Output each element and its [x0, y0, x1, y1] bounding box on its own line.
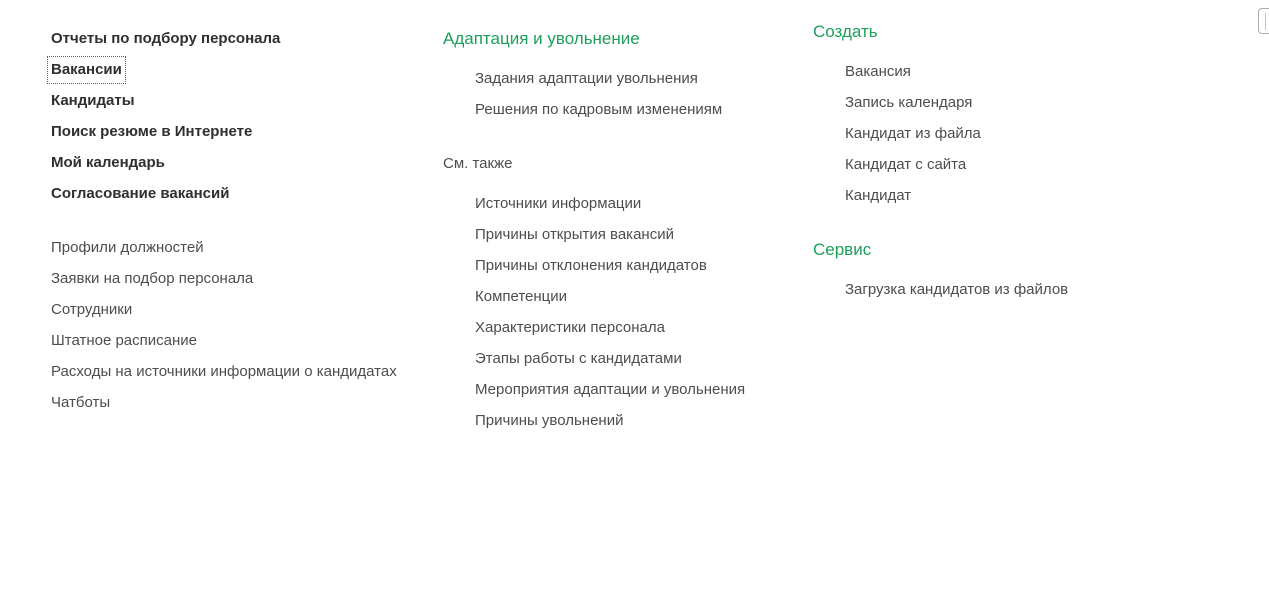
row-upload-candidates-from-files: Загрузка кандидатов из файлов	[813, 274, 1190, 305]
nav-row-reports: Отчеты по подбору персонала	[51, 23, 430, 54]
row-vacancy-opening-reasons: Причины открытия вакансий	[443, 219, 810, 250]
navigation-panel: Отчеты по подбору персонала Вакансии Кан…	[0, 0, 1269, 605]
row-adaptation-dismissal-events: Мероприятия адаптации и увольнения	[443, 374, 810, 405]
nav-link-vacancies[interactable]: Вакансии	[51, 60, 122, 80]
nav-link-vacancy-approval[interactable]: Согласование вакансий	[51, 184, 229, 204]
nav-link-recruitment-reports[interactable]: Отчеты по подбору персонала	[51, 29, 280, 49]
nav-row-candidates: Кандидаты	[51, 85, 430, 116]
nav-row-vacancies: Вакансии	[51, 54, 430, 85]
link-upload-candidates-from-files[interactable]: Загрузка кандидатов из файлов	[845, 280, 1068, 300]
nav-row-source-costs: Расходы на источники информации о кандид…	[51, 356, 430, 387]
row-adaptation-dismissal-tasks: Задания адаптации увольнения	[443, 63, 810, 94]
row-candidate-rejection-reasons: Причины отклонения кандидатов	[443, 250, 810, 281]
see-also-header-gap	[443, 179, 810, 188]
column-adaptation-dismissal: Адаптация и увольнение Задания адаптации…	[430, 0, 810, 436]
nav-link-internet-resume-search[interactable]: Поиск резюме в Интернете	[51, 122, 252, 142]
service-header-gap	[813, 265, 1190, 274]
link-adaptation-dismissal-events[interactable]: Мероприятия адаптации и увольнения	[475, 380, 745, 400]
link-create-vacancy[interactable]: Вакансия	[845, 62, 911, 82]
link-candidate-rejection-reasons[interactable]: Причины отклонения кандидатов	[475, 256, 707, 276]
row-personnel-change-decisions: Решения по кадровым изменениям	[443, 94, 810, 125]
group-title-create[interactable]: Создать	[813, 21, 878, 43]
link-create-candidate-from-site[interactable]: Кандидат с сайта	[845, 155, 966, 175]
row-dismissal-reasons: Причины увольнений	[443, 405, 810, 436]
nav-row-resume-search: Поиск резюме в Интернете	[51, 116, 430, 147]
group-title-adaptation-dismissal[interactable]: Адаптация и увольнение	[443, 28, 640, 50]
clipped-input-field[interactable]	[1258, 8, 1269, 34]
nav-link-staffing-table[interactable]: Штатное расписание	[51, 331, 197, 351]
row-create-candidate-from-site: Кандидат с сайта	[813, 149, 1190, 180]
create-header-gap	[813, 47, 1190, 56]
text-cursor-icon	[1265, 13, 1266, 30]
link-vacancy-opening-reasons[interactable]: Причины открытия вакансий	[475, 225, 674, 245]
row-competencies: Компетенции	[443, 281, 810, 312]
nav-link-employees[interactable]: Сотрудники	[51, 300, 132, 320]
nav-row-vacancy-approval: Согласование вакансий	[51, 178, 430, 209]
nav-link-recruitment-requests[interactable]: Заявки на подбор персонала	[51, 269, 253, 289]
link-create-candidate[interactable]: Кандидат	[845, 186, 911, 206]
subgroup-title-see-also: См. также	[443, 154, 512, 174]
link-competencies[interactable]: Компетенции	[475, 287, 567, 307]
nav-row-employees: Сотрудники	[51, 294, 430, 325]
nav-row-recruitment-requests: Заявки на подбор персонала	[51, 263, 430, 294]
nav-link-chatbots[interactable]: Чатботы	[51, 393, 110, 413]
group-header-row-adaptation: Адаптация и увольнение	[443, 23, 810, 54]
nav-link-my-calendar[interactable]: Мой календарь	[51, 153, 165, 173]
row-create-candidate-from-file: Кандидат из файла	[813, 118, 1190, 149]
link-dismissal-reasons[interactable]: Причины увольнений	[475, 411, 623, 431]
row-create-calendar-entry: Запись календаря	[813, 87, 1190, 118]
nav-row-my-calendar: Мой календарь	[51, 147, 430, 178]
nav-row-job-profiles: Профили должностей	[51, 232, 430, 263]
column-navigation: Отчеты по подбору персонала Вакансии Кан…	[0, 0, 430, 418]
group-header-gap-adaptation	[443, 54, 810, 63]
link-personnel-characteristics[interactable]: Характеристики персонала	[475, 318, 665, 338]
nav-row-staffing-table: Штатное расписание	[51, 325, 430, 356]
nav-link-candidates[interactable]: Кандидаты	[51, 91, 135, 111]
group-title-service[interactable]: Сервис	[813, 239, 871, 261]
row-create-candidate: Кандидат	[813, 180, 1190, 211]
nav-link-job-profiles[interactable]: Профили должностей	[51, 238, 204, 258]
row-candidate-work-stages: Этапы работы с кандидатами	[443, 343, 810, 374]
see-also-separator	[443, 125, 810, 148]
group-header-row-create: Создать	[813, 16, 1190, 47]
link-personnel-change-decisions[interactable]: Решения по кадровым изменениям	[475, 100, 722, 120]
link-create-candidate-from-file[interactable]: Кандидат из файла	[845, 124, 981, 144]
nav-row-chatbots: Чатботы	[51, 387, 430, 418]
column-create-service: Создать Вакансия Запись календаря Кандид…	[810, 0, 1190, 305]
row-information-sources: Источники информации	[443, 188, 810, 219]
group-header-row-service: Сервис	[813, 234, 1190, 265]
group-separator-col1	[51, 209, 430, 232]
top-spacer-col2	[443, 0, 810, 23]
row-personnel-characteristics: Характеристики персонала	[443, 312, 810, 343]
link-adaptation-dismissal-tasks[interactable]: Задания адаптации увольнения	[475, 69, 698, 89]
nav-link-candidate-source-costs[interactable]: Расходы на источники информации о кандид…	[51, 362, 397, 382]
subgroup-header-row-see-also: См. также	[443, 148, 810, 179]
link-information-sources[interactable]: Источники информации	[475, 194, 641, 214]
top-spacer-col3	[813, 0, 1190, 16]
row-create-vacancy: Вакансия	[813, 56, 1190, 87]
top-spacer-col1	[51, 0, 430, 23]
service-separator	[813, 211, 1190, 234]
link-create-calendar-entry[interactable]: Запись календаря	[845, 93, 972, 113]
link-candidate-work-stages[interactable]: Этапы работы с кандидатами	[475, 349, 682, 369]
